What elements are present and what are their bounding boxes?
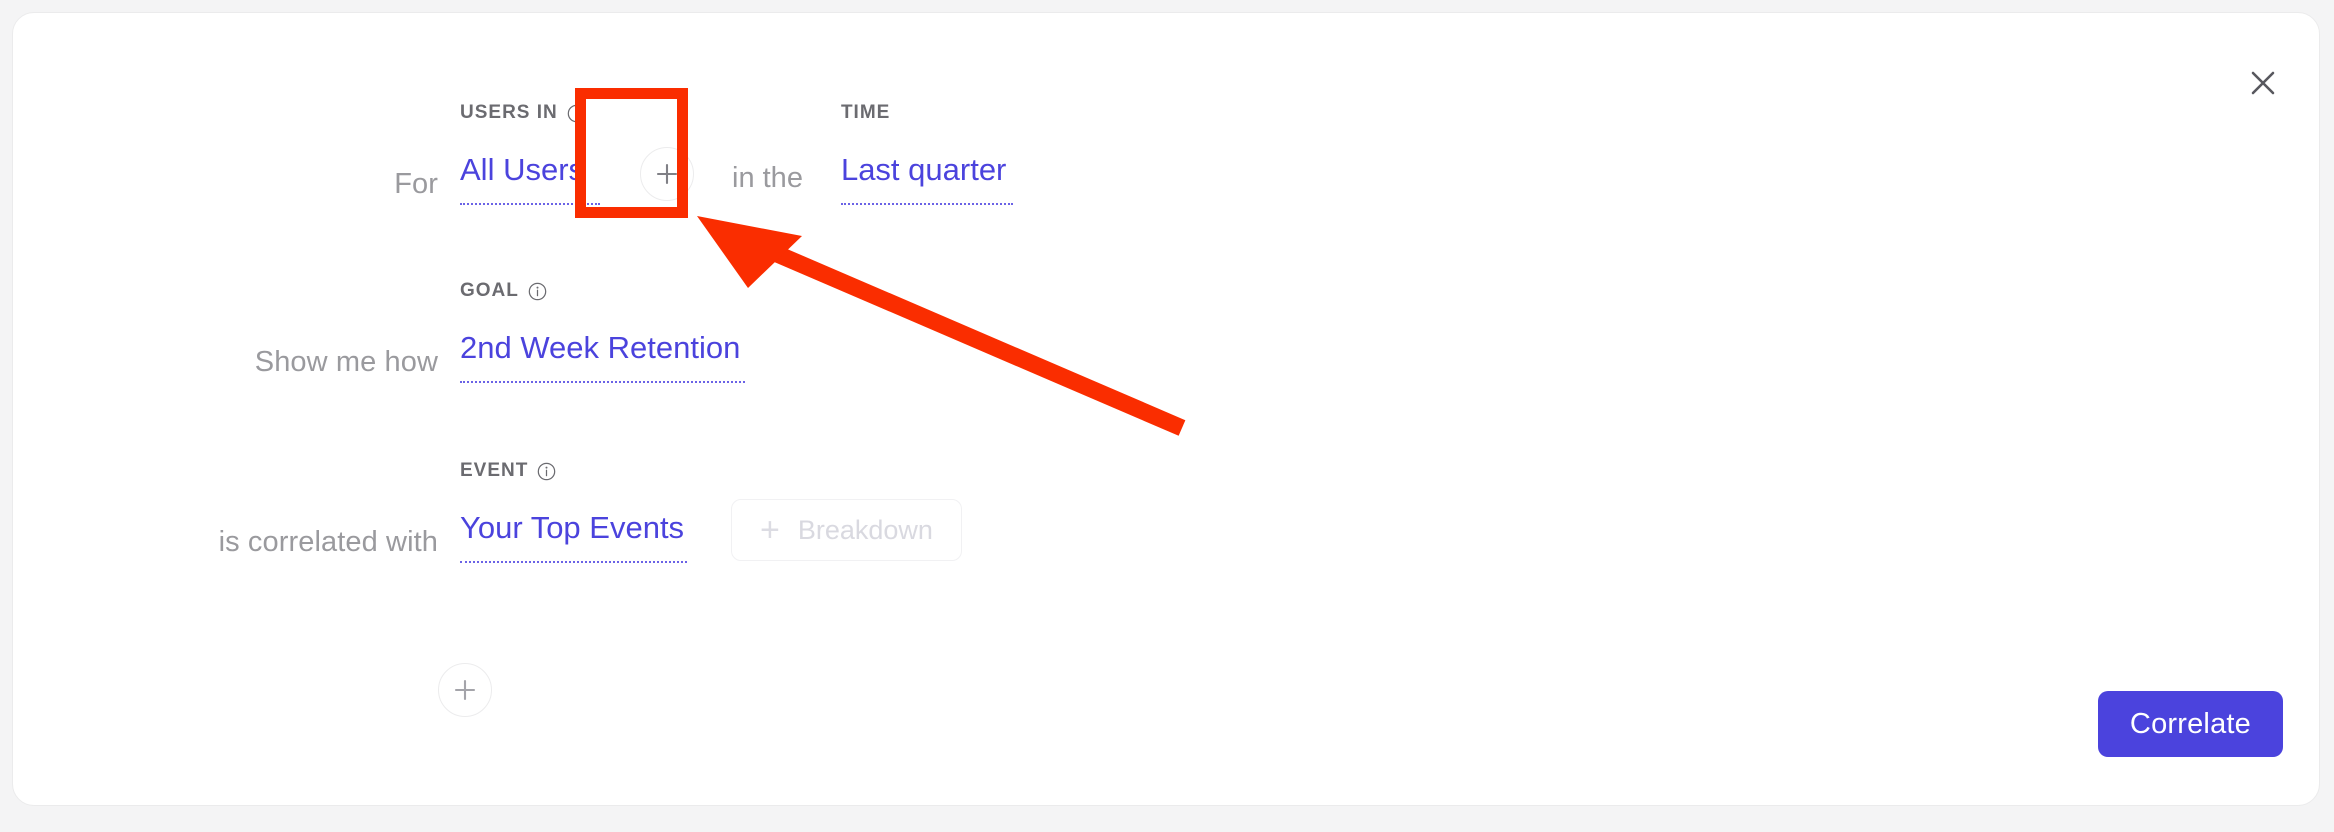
add-users-filter-plus-button[interactable] xyxy=(640,147,694,201)
close-icon[interactable] xyxy=(2241,61,2285,105)
goal-caption-text: GOAL xyxy=(460,280,519,302)
field-time: TIME Last quarter xyxy=(841,149,1013,205)
info-icon[interactable] xyxy=(528,282,547,301)
field-goal-caption: GOAL xyxy=(460,280,547,302)
field-users-in: USERS IN All Users xyxy=(460,149,600,205)
field-goal: GOAL 2nd Week Retention xyxy=(460,327,745,383)
row-users-suffix: in the xyxy=(732,157,803,199)
info-icon[interactable] xyxy=(567,104,586,123)
time-caption-text: TIME xyxy=(841,102,890,124)
time-value[interactable]: Last quarter xyxy=(841,149,1013,205)
row-users-in: For USERS IN All Users xyxy=(13,131,1013,205)
field-time-caption: TIME xyxy=(841,102,890,124)
row-goal-prefix: Show me how xyxy=(13,341,438,383)
row-event: is correlated with EVENT Your Top Event xyxy=(13,489,962,563)
info-icon[interactable] xyxy=(537,462,556,481)
correlation-query-builder-screen: For USERS IN All Users xyxy=(0,0,2334,832)
field-event: EVENT Your Top Events xyxy=(460,507,687,563)
add-breakdown-button[interactable]: + Breakdown xyxy=(731,499,962,561)
row-users-prefix: For xyxy=(13,163,438,205)
breakdown-label: Breakdown xyxy=(798,515,933,546)
row-event-prefix: is correlated with xyxy=(13,521,438,563)
users-in-value[interactable]: All Users xyxy=(460,149,600,205)
query-builder-card: For USERS IN All Users xyxy=(12,12,2320,806)
users-in-caption-text: USERS IN xyxy=(460,102,558,124)
event-caption-text: EVENT xyxy=(460,460,528,482)
plus-icon: + xyxy=(760,513,780,547)
field-users-in-caption: USERS IN xyxy=(460,102,586,124)
event-value[interactable]: Your Top Events xyxy=(460,507,687,563)
goal-value[interactable]: 2nd Week Retention xyxy=(460,327,745,383)
field-event-caption: EVENT xyxy=(460,460,556,482)
add-row-button[interactable] xyxy=(438,663,492,717)
row-goal: Show me how GOAL 2nd Week Retention xyxy=(13,309,745,383)
correlate-button[interactable]: Correlate xyxy=(2098,691,2283,757)
